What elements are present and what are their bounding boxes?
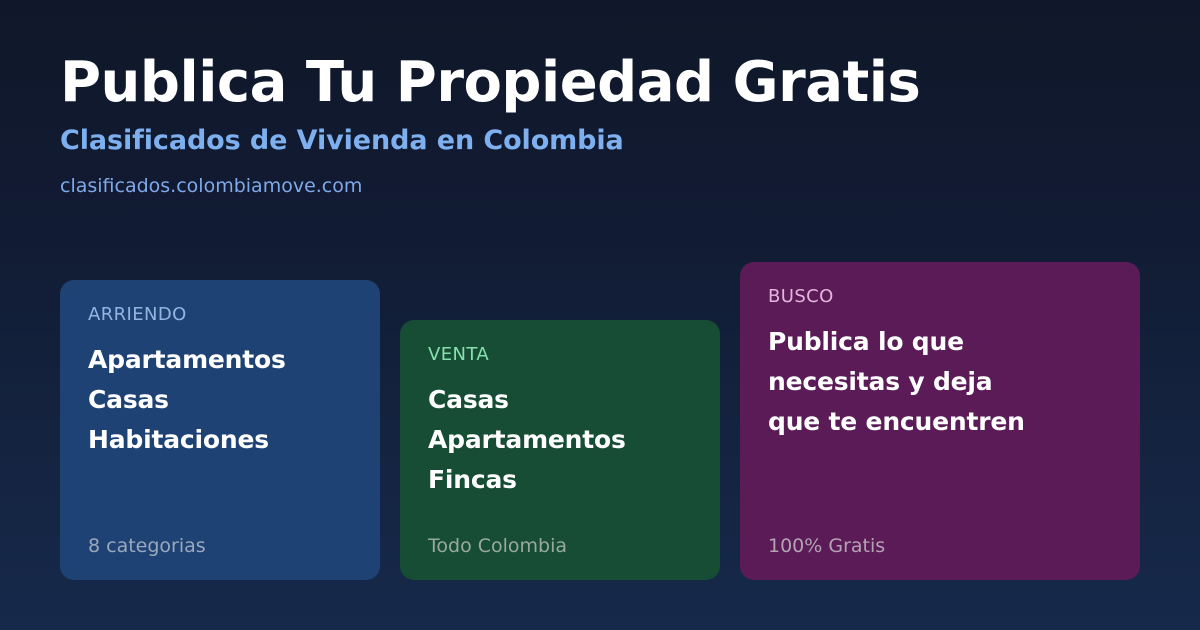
category-card-list: ARRIENDO Apartamentos Casas Habitaciones… xyxy=(60,260,1140,580)
card-kicker-busco: BUSCO xyxy=(768,286,1112,308)
card-body-venta: Casas Apartamentos Fincas xyxy=(428,380,692,500)
card-body-line: necesitas y deja xyxy=(768,362,1112,402)
card-footer-venta: Todo Colombia xyxy=(428,535,692,558)
card-spacer xyxy=(428,500,692,536)
card-footer-busco: 100% Gratis xyxy=(768,535,1112,558)
card-spacer xyxy=(88,460,352,536)
page-subtitle: Clasificados de Vivienda en Colombia xyxy=(60,125,1140,157)
category-card-arriendo[interactable]: ARRIENDO Apartamentos Casas Habitaciones… xyxy=(60,280,380,580)
card-spacer xyxy=(768,442,1112,536)
page-title: Publica Tu Propiedad Gratis xyxy=(60,52,1140,115)
card-footer-arriendo: 8 categorias xyxy=(88,535,352,558)
card-body-line: Casas xyxy=(88,380,352,420)
card-body-line: Habitaciones xyxy=(88,420,352,460)
site-url[interactable]: clasificados.colombiamove.com xyxy=(60,175,1140,198)
card-body-line: Casas xyxy=(428,380,692,420)
card-body-line: que te encuentren xyxy=(768,402,1112,442)
card-body-line: Apartamentos xyxy=(428,420,692,460)
category-card-venta[interactable]: VENTA Casas Apartamentos Fincas Todo Col… xyxy=(400,320,720,580)
card-body-line: Apartamentos xyxy=(88,340,352,380)
card-body-busco: Publica lo que necesitas y deja que te e… xyxy=(768,322,1112,442)
card-body-line: Fincas xyxy=(428,460,692,500)
card-body-line: Publica lo que xyxy=(768,322,1112,362)
card-body-arriendo: Apartamentos Casas Habitaciones xyxy=(88,340,352,460)
category-card-busco[interactable]: BUSCO Publica lo que necesitas y deja qu… xyxy=(740,262,1140,580)
og-card-canvas: Publica Tu Propiedad Gratis Clasificados… xyxy=(0,0,1200,630)
card-kicker-arriendo: ARRIENDO xyxy=(88,304,352,326)
header-block: Publica Tu Propiedad Gratis Clasificados… xyxy=(60,52,1140,198)
card-kicker-venta: VENTA xyxy=(428,344,692,366)
